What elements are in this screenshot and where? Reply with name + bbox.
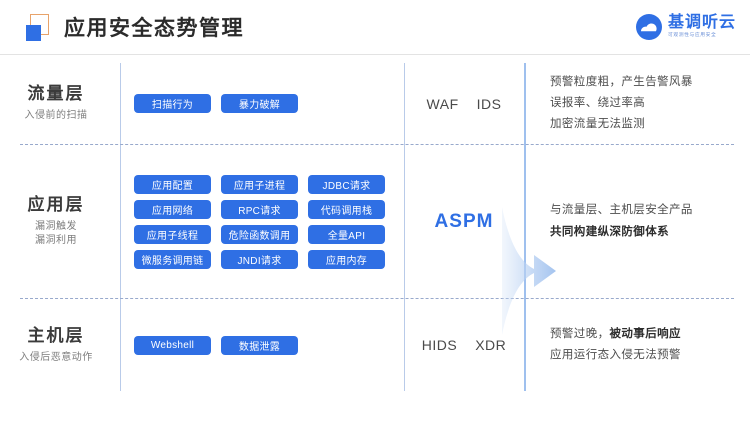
tag-item[interactable]: JNDI请求 — [221, 250, 298, 269]
tag-row: 扫描行为 暴力破解 — [134, 94, 404, 113]
logo-name: 基调听云 — [668, 15, 736, 32]
note-prefix: 预警过晚， — [550, 328, 610, 340]
tag-row: 应用配置 应用子进程 JDBC请求 — [134, 175, 404, 194]
tag-item[interactable]: 微服务调用链 — [134, 250, 211, 269]
layer-name: 主机层 — [0, 325, 112, 348]
tag-item[interactable]: JDBC请求 — [308, 175, 385, 194]
tag-row: 应用子线程 危险函数调用 全量API — [134, 225, 404, 244]
tag-item[interactable]: 应用内存 — [308, 250, 385, 269]
layer-row-host: 主机层 入侵后恶意动作 Webshell 数据泄露 HIDS XDR 预警过晚，… — [0, 299, 750, 391]
layer-subtitle-line: 漏洞利用 — [0, 234, 112, 249]
product-group-traffic: WAF IDS — [404, 96, 524, 112]
note-line: 应用运行态入侵无法预警 — [550, 345, 750, 366]
note-group-application: 与流量层、主机层安全产品 共同构建纵深防御体系 — [524, 200, 750, 243]
product-group-application: ASPM — [404, 211, 524, 233]
tag-item[interactable]: 应用子线程 — [134, 225, 211, 244]
note-line: 误报率、绕过率高 — [550, 93, 750, 114]
logo-subtitle: 可观测性与应用安全 — [668, 32, 733, 38]
tag-group-host: Webshell 数据泄露 — [120, 336, 404, 355]
note-line: 加密流量无法监测 — [550, 114, 750, 135]
tag-item[interactable]: 暴力破解 — [221, 94, 298, 113]
note-group-traffic: 预警粒度粗，产生告警风暴 误报率、绕过率高 加密流量无法监测 — [524, 72, 750, 136]
tag-item[interactable]: Webshell — [134, 336, 211, 355]
note-line: 与流量层、主机层安全产品 — [550, 200, 750, 221]
layer-name: 应用层 — [0, 194, 112, 217]
layer-subtitle: 入侵后恶意动作 — [0, 351, 112, 366]
tag-row: 应用网络 RPC请求 代码调用栈 — [134, 200, 404, 219]
tag-item[interactable]: 全量API — [308, 225, 385, 244]
tag-item[interactable]: 危险函数调用 — [221, 225, 298, 244]
layer-label-traffic: 流量层 入侵前的扫描 — [0, 83, 120, 123]
layer-subtitle-line: 漏洞触发 — [0, 220, 112, 235]
brand-logo: 基调听云 可观测性与应用安全 — [635, 13, 736, 41]
logo-text-block: 基调听云 可观测性与应用安全 — [668, 15, 736, 38]
note-line: 预警过晚，被动事后响应 — [550, 324, 750, 345]
title-block: 应用安全态势管理 — [26, 14, 244, 42]
tag-item[interactable]: 数据泄露 — [221, 336, 298, 355]
layer-row-application: 应用层 漏洞触发 漏洞利用 应用配置 应用子进程 JDBC请求 应用网络 RPC… — [0, 145, 750, 298]
layer-name: 流量层 — [0, 83, 112, 106]
tag-item[interactable]: 代码调用栈 — [308, 200, 385, 219]
layer-row-traffic: 流量层 入侵前的扫描 扫描行为 暴力破解 WAF IDS 预警粒度粗，产生告警风… — [0, 63, 750, 144]
product-name: XDR — [475, 337, 506, 353]
note-strong: 被动事后响应 — [610, 328, 681, 340]
product-pair: WAF IDS — [404, 96, 524, 112]
product-pair: HIDS XDR — [404, 337, 524, 353]
layer-label-host: 主机层 入侵后恶意动作 — [0, 325, 120, 365]
product-group-host: HIDS XDR — [404, 337, 524, 353]
tag-item[interactable]: 应用子进程 — [221, 175, 298, 194]
page-header: 应用安全态势管理 基调听云 可观测性与应用安全 — [0, 0, 750, 55]
tag-row: Webshell 数据泄露 — [134, 336, 404, 355]
product-name-aspm: ASPM — [404, 211, 524, 233]
note-group-host: 预警过晚，被动事后响应 应用运行态入侵无法预警 — [524, 324, 750, 367]
tag-item[interactable]: 扫描行为 — [134, 94, 211, 113]
tag-item[interactable]: 应用配置 — [134, 175, 211, 194]
product-name: IDS — [477, 96, 502, 112]
tag-group-traffic: 扫描行为 暴力破解 — [120, 94, 404, 113]
note-line: 预警粒度粗，产生告警风暴 — [550, 72, 750, 93]
page-title: 应用安全态势管理 — [64, 18, 244, 39]
product-name: HIDS — [422, 337, 457, 353]
square-fill-icon — [26, 25, 41, 41]
product-name: WAF — [427, 96, 459, 112]
layer-label-application: 应用层 漏洞触发 漏洞利用 — [0, 194, 120, 249]
tag-row: 微服务调用链 JNDI请求 应用内存 — [134, 250, 404, 269]
title-mark-icon — [26, 14, 52, 42]
layer-subtitle: 入侵前的扫描 — [0, 109, 112, 124]
layer-matrix: 流量层 入侵前的扫描 扫描行为 暴力破解 WAF IDS 预警粒度粗，产生告警风… — [0, 55, 750, 421]
tag-item[interactable]: RPC请求 — [221, 200, 298, 219]
tag-item[interactable]: 应用网络 — [134, 200, 211, 219]
note-line-emphasis: 共同构建纵深防御体系 — [550, 222, 750, 243]
tag-group-application: 应用配置 应用子进程 JDBC请求 应用网络 RPC请求 代码调用栈 应用子线程… — [120, 175, 404, 269]
cloud-logo-icon — [635, 13, 663, 41]
